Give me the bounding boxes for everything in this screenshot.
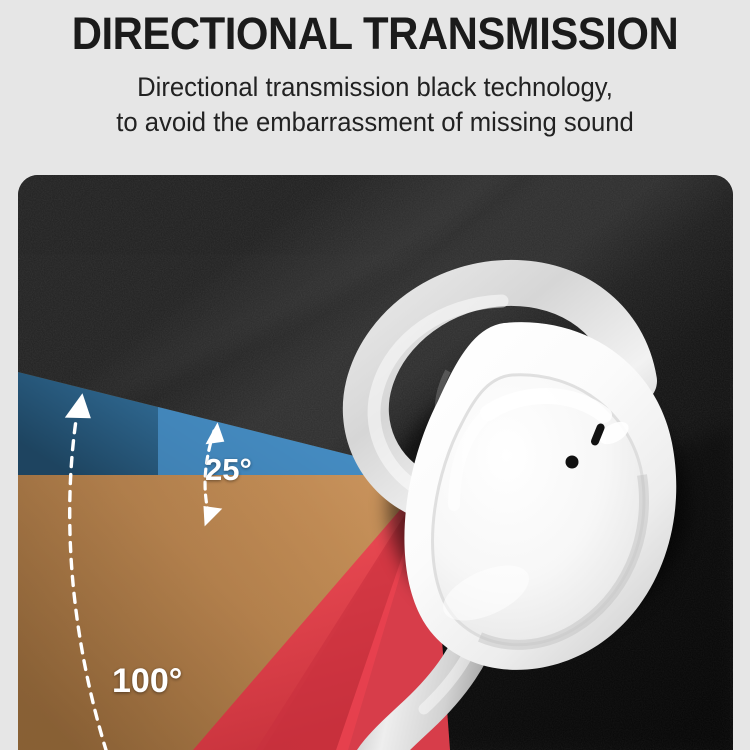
- product-photo-panel: [18, 175, 733, 750]
- page-title: DIRECTIONAL TRANSMISSION: [26, 6, 724, 62]
- header: DIRECTIONAL TRANSMISSION Directional tra…: [0, 0, 750, 175]
- mic-pinhole-icon: [566, 456, 579, 469]
- product-scene-illustration: [18, 175, 733, 750]
- page-subtitle: Directional transmission black technolog…: [19, 70, 732, 140]
- subtitle-line-1: Directional transmission black technolog…: [19, 70, 732, 105]
- subtitle-line-2: to avoid the embarrassment of missing so…: [19, 105, 732, 140]
- product-feature-page: DIRECTIONAL TRANSMISSION Directional tra…: [0, 0, 750, 750]
